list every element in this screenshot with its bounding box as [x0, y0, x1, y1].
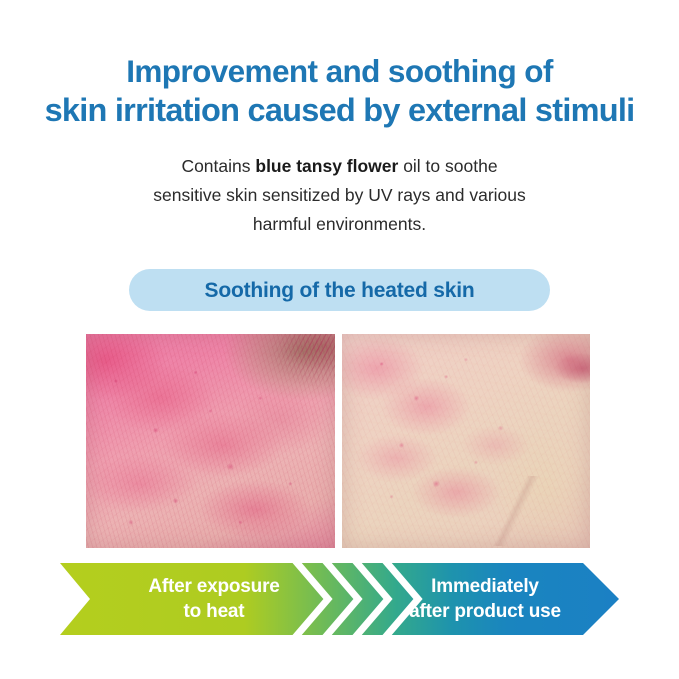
description-paragraph: Contains blue tansy flower oil to soothe…	[0, 152, 679, 239]
description-prefix: Contains	[181, 156, 255, 176]
section-badge: Soothing of the heated skin	[129, 269, 550, 311]
after-photo-vignette	[342, 334, 591, 548]
description-line-2: sensitive skin sensitized by UV rays and…	[0, 181, 679, 210]
progress-arrow-banner: After exposure to heat Immediately after…	[60, 563, 619, 635]
page-title-line-1: Improvement and soothing of	[0, 52, 679, 91]
description-line-1: Contains blue tansy flower oil to soothe	[0, 152, 679, 181]
before-photo-vignette	[86, 334, 335, 548]
page-title-line-2: skin irritation caused by external stimu…	[0, 91, 679, 130]
before-photo	[86, 334, 335, 548]
after-photo	[342, 334, 591, 548]
arrow-banner-graphic	[60, 563, 619, 635]
description-suffix: oil to soothe	[398, 156, 497, 176]
section-badge-label: Soothing of the heated skin	[205, 280, 475, 301]
ingredient-highlight: blue tansy flower	[255, 156, 398, 176]
page-title: Improvement and soothing of skin irritat…	[0, 52, 679, 130]
before-after-photo-pair	[86, 334, 590, 548]
description-line-3: harmful environments.	[0, 210, 679, 239]
infographic-page: Improvement and soothing of skin irritat…	[0, 0, 679, 679]
